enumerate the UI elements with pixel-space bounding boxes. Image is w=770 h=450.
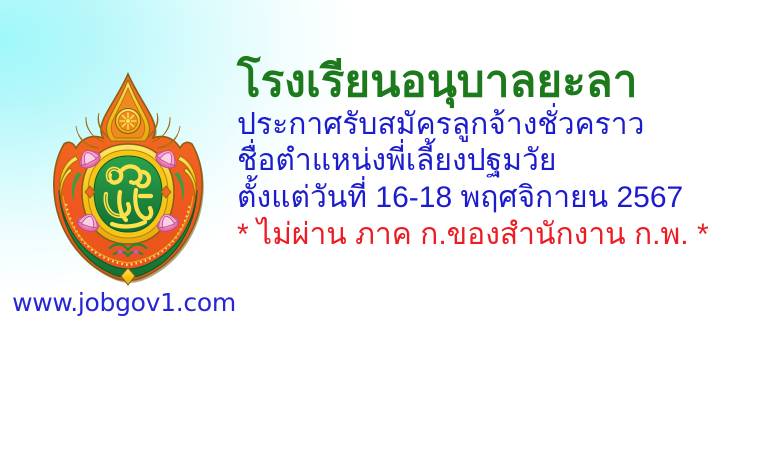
logo-block: www.jobgov1.com xyxy=(8,72,240,322)
thai-ministry-of-education-emblem-icon xyxy=(52,72,204,292)
exam-exemption-note: * ไม่ผ่าน ภาค ก.ของสำนักงาน ก.พ. * xyxy=(237,217,770,254)
announcement-line-2-position: ชื่อตำแหน่งพี่เลี้ยงปฐมวัย xyxy=(237,143,770,180)
announcement-line-1: ประกาศรับสมัครลูกจ้างชั่วคราว xyxy=(237,107,770,144)
announcement-line-3-dates: ตั้งแต่วันที่ 16-18 พฤศจิกายน 2567 xyxy=(237,180,770,217)
job-announcement-poster: www.jobgov1.com โรงเรียนอนุบาลยะลา ประกา… xyxy=(0,0,770,450)
announcement-text-block: โรงเรียนอนุบาลยะลา ประกาศรับสมัครลูกจ้าง… xyxy=(237,60,770,253)
website-watermark: www.jobgov1.com xyxy=(8,288,240,317)
school-name-headline: โรงเรียนอนุบาลยะลา xyxy=(237,60,770,105)
